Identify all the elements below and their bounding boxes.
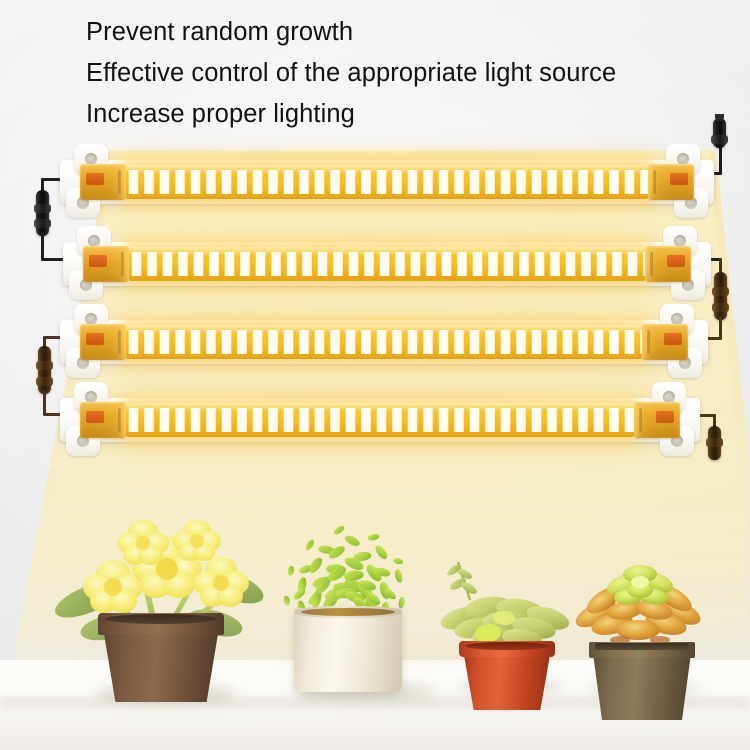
cable-loop-left-lower-riser-b [43, 390, 46, 415]
cable-loop-left-upper-riser-b [41, 232, 44, 260]
led-bar-3-led-strip [126, 325, 642, 359]
headline-line-3: Increase proper lighting [86, 94, 736, 135]
led-bar-2-led-strip [129, 247, 645, 281]
connector-left-lower [38, 346, 51, 394]
connector-top-right [713, 118, 726, 148]
led-bar-1-driver-right [648, 164, 694, 200]
led-bar-3[interactable] [60, 308, 708, 382]
headline-line-2: Effective control of the appropriate lig… [86, 53, 736, 94]
plant-3-small-leafy-plant [434, 560, 580, 700]
plant-2-pot-soil [301, 608, 395, 616]
connector-right-middle [714, 272, 727, 320]
led-bar-4[interactable] [60, 386, 700, 460]
connector-right-bottom [708, 426, 721, 460]
led-bar-1[interactable] [60, 148, 714, 222]
led-bar-4-driver-right [634, 402, 680, 438]
plant-1-yellow-flowering-plant [55, 495, 265, 705]
plant-4-succulent-plant [568, 548, 718, 703]
led-bar-3-driver-left [80, 324, 126, 360]
led-bar-1-driver-left [80, 164, 126, 200]
led-bar-1-led-strip [126, 165, 648, 199]
plant-2-pot [294, 608, 402, 692]
connector-left-upper [36, 190, 49, 236]
led-bar-2-driver-right [645, 246, 691, 282]
product-photo-stage: Prevent random growth Effective control … [0, 0, 750, 750]
led-bar-3-driver-right [642, 324, 688, 360]
headline-line-1: Prevent random growth [86, 12, 736, 53]
headline-block: Prevent random growth Effective control … [86, 12, 736, 135]
plant-2-green-fern-plant [252, 498, 442, 698]
plant-1-pot-inner-shadow [105, 614, 217, 624]
plant-3-pot-inner-shadow [465, 642, 549, 650]
led-bar-2-driver-left [83, 246, 129, 282]
led-bar-4-driver-left [80, 402, 126, 438]
led-bar-4-led-strip [126, 403, 634, 437]
led-bar-2[interactable] [63, 230, 711, 304]
plant-4-pot-inner-shadow [595, 643, 689, 650]
